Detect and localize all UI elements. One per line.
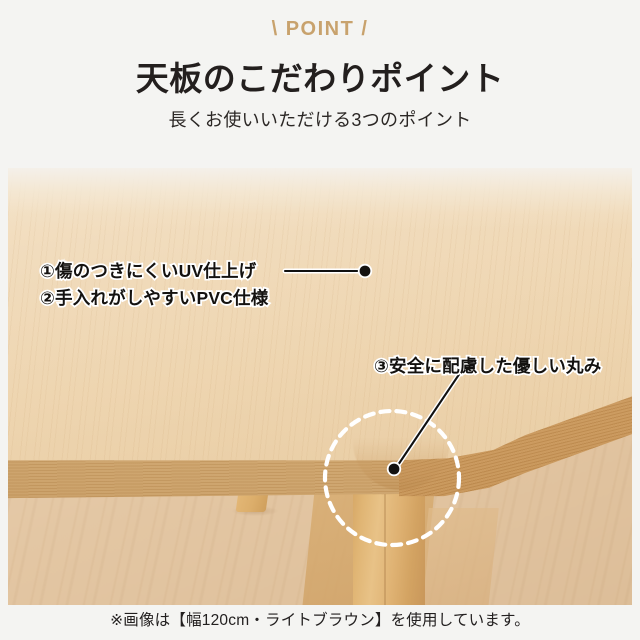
callout-label-3: ③安全に配慮した優しい丸み ③安全に配慮した優しい丸み	[374, 353, 601, 378]
footer-note: ※画像は【幅120cm・ライトブラウン】を使用しています。	[110, 608, 530, 630]
callout-label-1: ①傷のつきにくいUV仕上げ ①傷のつきにくいUV仕上げ	[40, 258, 256, 283]
callout-label-2: ②手入れがしやすいPVC仕様 ②手入れがしやすいPVC仕様	[40, 285, 268, 310]
footer-bar: ※画像は【幅120cm・ライトブラウン】を使用しています。	[8, 605, 632, 632]
page-subtitle: 長くお使いいただける3つのポイント	[8, 106, 632, 132]
callout-label-3-text: ③安全に配慮した優しい丸み	[374, 353, 601, 378]
image-canvas: ①傷のつきにくいUV仕上げ ①傷のつきにくいUV仕上げ ②手入れがしやすいPVC…	[8, 8, 632, 632]
point-kicker: \ POINT /	[8, 18, 632, 41]
header-block: \ POINT / 天板のこだわりポイント 長くお使いいただける3つのポイント	[8, 8, 632, 168]
callout-label-2-text: ②手入れがしやすいPVC仕様	[40, 285, 268, 310]
callout-label-1-text: ①傷のつきにくいUV仕上げ	[40, 258, 256, 283]
image-frame: ①傷のつきにくいUV仕上げ ①傷のつきにくいUV仕上げ ②手入れがしやすいPVC…	[0, 0, 640, 640]
page-title: 天板のこだわりポイント	[8, 52, 632, 100]
